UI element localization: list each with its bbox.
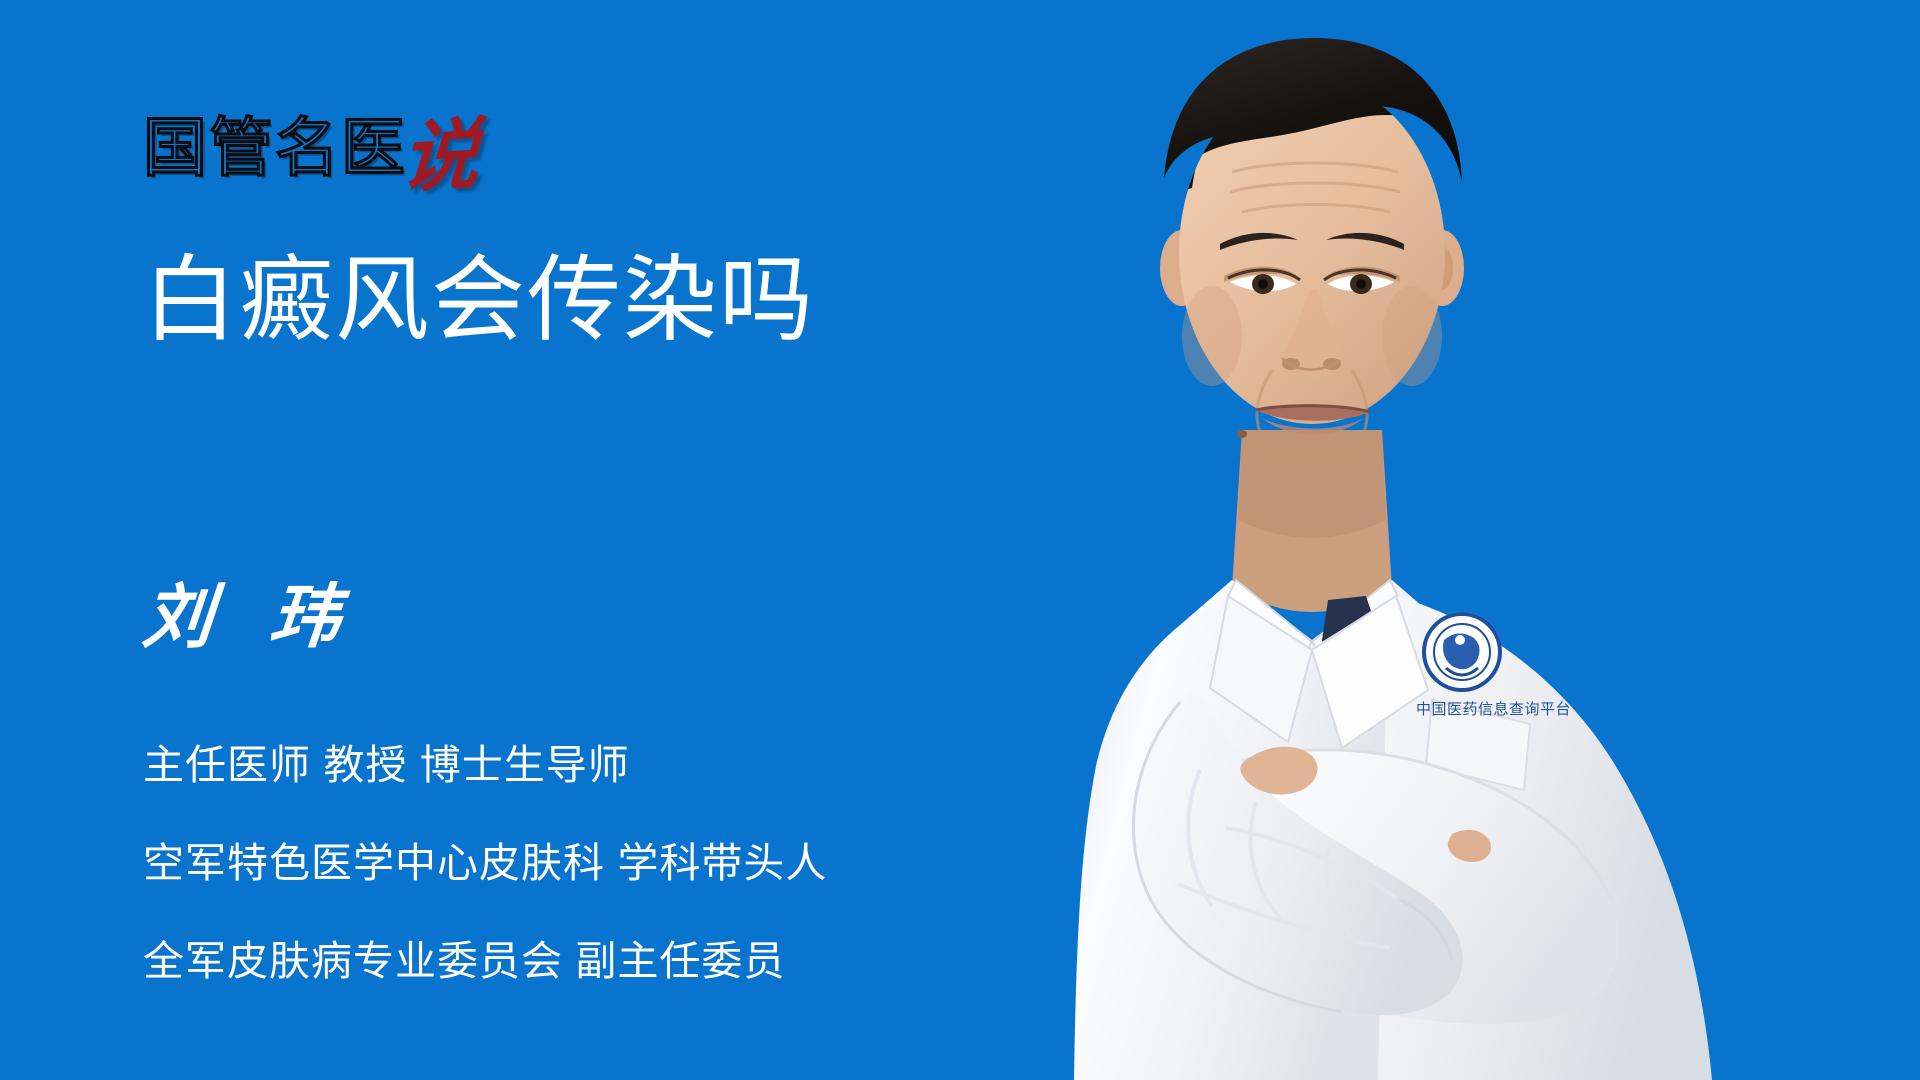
doctor-head	[1160, 38, 1464, 461]
program-logo: 国管名医 说	[143, 96, 479, 182]
video-cover-slide: 国管名医 说 白癜风会传染吗 刘 玮 主任医师 教授 博士生导师 空军特色医学中…	[0, 0, 1920, 1080]
coat-badge-emblem	[1422, 612, 1502, 692]
doctor-name: 刘 玮	[140, 578, 359, 656]
program-logo-main-text: 国管名医	[143, 114, 407, 182]
page-title: 白癜风会传染吗	[143, 250, 815, 350]
doctor-portrait-illustration: 中国医药信息查询平台	[1060, 0, 1920, 1080]
credential-line-2: 空军特色医学中心皮肤科 学科带头人	[143, 814, 1043, 912]
left-content-column: 国管名医 说 白癜风会传染吗 刘 玮 主任医师 教授 博士生导师 空军特色医学中…	[143, 0, 1143, 1080]
doctor-portrait: 中国医药信息查询平台	[1060, 0, 1920, 1080]
doctor-credentials: 主任医师 教授 博士生导师 空军特色医学中心皮肤科 学科带头人 全军皮肤病专业委…	[143, 716, 1043, 1010]
program-logo-accent-text: 说	[399, 120, 481, 194]
coat-badge-text: 中国医药信息查询平台	[1416, 701, 1571, 718]
credential-line-3: 全军皮肤病专业委员会 副主任委员	[143, 912, 1043, 1010]
credential-line-1: 主任医师 教授 博士生导师	[143, 716, 1043, 814]
